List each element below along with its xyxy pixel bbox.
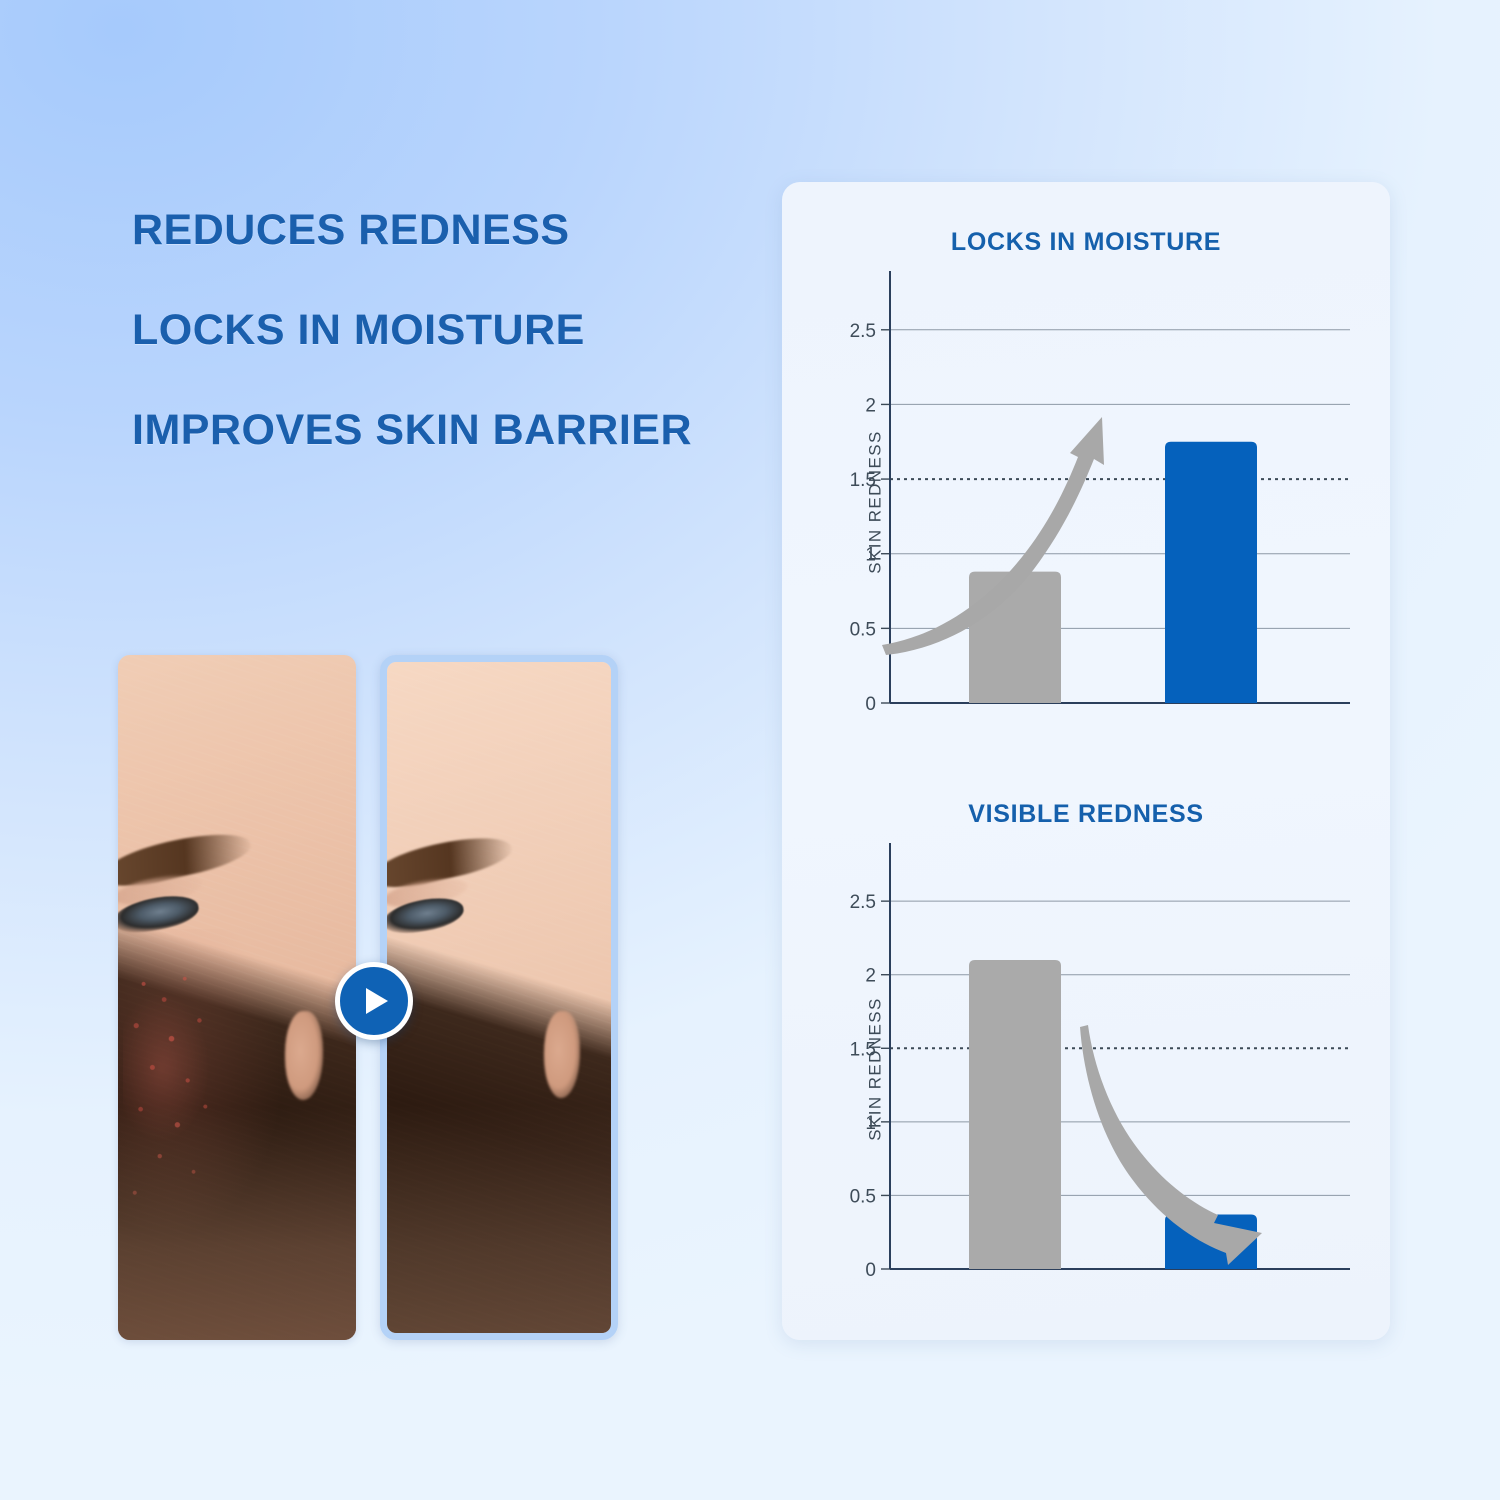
play-icon[interactable] [335, 962, 413, 1040]
y-tick-label: 1.5 [850, 1039, 876, 1060]
benefit-headline-list: REDUCES REDNESS LOCKS IN MOISTURE IMPROV… [132, 206, 732, 456]
jaw-shadow [118, 1107, 356, 1340]
photo-before-image [118, 655, 356, 1340]
bar [969, 572, 1061, 703]
charts-card: LOCKS IN MOISTURE SKIN REDNESS 00.511.52… [782, 182, 1390, 1340]
y-tick-label: 1 [865, 545, 876, 566]
gridlines [881, 330, 1350, 703]
photo-after-image [387, 662, 611, 1333]
jaw-shadow [387, 1105, 611, 1333]
benefit-headline-reduces-redness: REDUCES REDNESS [132, 206, 732, 256]
y-tick-label: 1 [865, 1113, 876, 1134]
y-tick-label: 2.5 [850, 892, 876, 913]
bar [1165, 442, 1257, 703]
chart-svg: 00.511.522.5 [782, 829, 1390, 1309]
play-triangle [366, 988, 388, 1014]
benefit-headline-improves-skin-barrier: IMPROVES SKIN BARRIER [132, 406, 732, 456]
before-after-comparison[interactable] [118, 655, 630, 1340]
y-tick-label: 0 [865, 694, 876, 715]
chart-title: VISIBLE REDNESS [782, 790, 1390, 829]
chart-svg: 00.511.522.5 [782, 257, 1390, 747]
y-tick-label: 2.5 [850, 321, 876, 342]
y-tick-label: 0.5 [850, 619, 876, 640]
infographic-canvas: REDUCES REDNESS LOCKS IN MOISTURE IMPROV… [0, 0, 1500, 1500]
y-tick-labels: 00.511.522.5 [850, 321, 876, 715]
ear [544, 1011, 580, 1098]
photo-before[interactable] [118, 655, 356, 1340]
chart-locks-in-moisture: LOCKS IN MOISTURE SKIN REDNESS 00.511.52… [782, 208, 1390, 768]
chart-title: LOCKS IN MOISTURE [782, 208, 1390, 257]
benefit-headline-locks-in-moisture: LOCKS IN MOISTURE [132, 306, 732, 356]
y-tick-labels: 00.511.522.5 [850, 892, 876, 1281]
bar [969, 960, 1061, 1269]
y-tick-label: 0.5 [850, 1186, 876, 1207]
photo-after[interactable] [380, 655, 618, 1340]
chart-visible-redness: VISIBLE REDNESS SKIN REDNESS 00.511.522.… [782, 790, 1390, 1330]
y-tick-label: 2 [865, 966, 876, 987]
plot-area: SKIN REDNESS 00.511.522.5 [782, 829, 1390, 1309]
y-tick-label: 1.5 [850, 470, 876, 491]
plot-area: SKIN REDNESS 00.511.522.5 [782, 257, 1390, 747]
gridlines [881, 901, 1350, 1269]
y-tick-label: 2 [865, 395, 876, 416]
y-tick-label: 0 [865, 1260, 876, 1281]
